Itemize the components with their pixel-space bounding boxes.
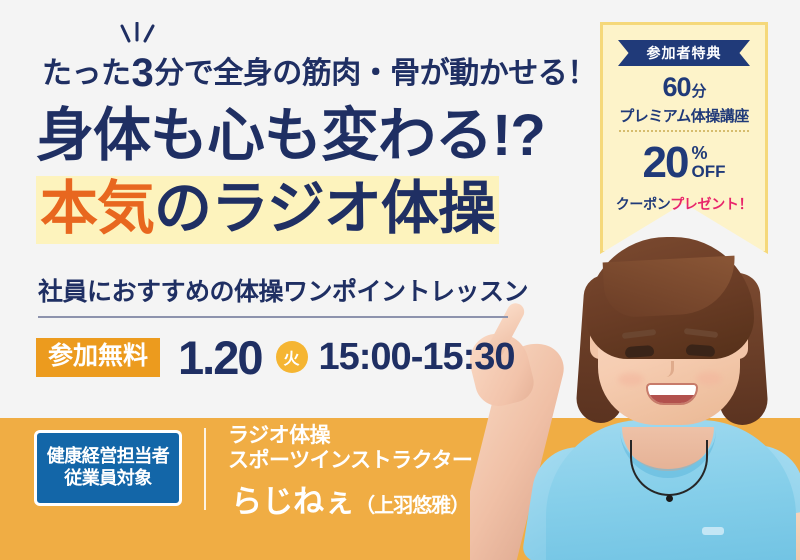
instructor-mouth [646, 383, 698, 405]
event-time: 15:00-15:30 [319, 338, 515, 376]
presenter-block: ラジオ体操 スポーツインストラクター らじねぇ（上羽悠雅） [228, 424, 472, 521]
presenter-name-row: らじねぇ（上羽悠雅） [228, 476, 472, 521]
event-date: 1.20 [178, 334, 261, 381]
subtitle: 社員におすすめの体操ワンポイントレッスン [38, 272, 528, 308]
benefit-ribbon: 参加者特典 60分 プレミアム体操講座 20 % OFF クーポンプレゼント！ [600, 22, 768, 254]
headline-primary: 身体も心も変わる!? [36, 107, 545, 165]
free-entry-badge: 参加無料 [36, 338, 160, 377]
coupon-note: クーポンプレゼント！ [600, 194, 768, 214]
presenter-name: らじねぇ [231, 484, 355, 519]
headline-accent-text: 本気 [40, 176, 154, 241]
benefit-discount: 20 % OFF [600, 142, 768, 184]
shirt-logo [702, 527, 724, 535]
presenter-role-line-1: ラジオ体操 [228, 424, 472, 449]
coupon-suffix: プレゼント！ [670, 196, 752, 212]
benefit-duration: 60分 [600, 72, 768, 103]
ribbon-header-label: 参加者特典 [618, 40, 750, 66]
tagline: たった3分で全身の筋肉・骨が動かせる！ [42, 48, 597, 96]
instructor-photo [470, 215, 800, 560]
necklace-pendant [666, 495, 673, 502]
event-date-row: 参加無料 1.20 火 15:00-15:30 [36, 332, 515, 382]
discount-percent-sign: % [691, 144, 707, 162]
headline-secondary: 本気のラジオ体操 [36, 176, 499, 244]
promo-banner: たった3分で全身の筋肉・骨が動かせる！ 身体も心も変わる!? 本気のラジオ体操 … [0, 0, 800, 560]
instructor-eye-left [625, 345, 655, 358]
instructor-blush-left [618, 373, 644, 386]
tagline-suffix: 分で全身の筋肉・骨が動かせる！ [154, 57, 597, 90]
benefit-course-name: プレミアム体操講座 [600, 105, 768, 126]
tagline-prefix: たった [42, 57, 131, 90]
audience-line-2: 従業員対象 [64, 468, 152, 490]
presenter-name-reading: （上羽悠雅） [355, 495, 469, 517]
audience-box: 健康経営担当者 従業員対象 [34, 430, 182, 506]
discount-number: 20 [643, 142, 688, 184]
benefit-duration-unit: 分 [692, 83, 706, 100]
coupon-prefix: クーポン [616, 196, 670, 212]
presenter-role-line-2: スポーツインストラクター [228, 449, 472, 474]
footer-divider [204, 428, 206, 510]
ribbon-dotted-divider [618, 130, 750, 132]
tagline-number: 3 [132, 51, 154, 95]
ribbon-content: 参加者特典 60分 プレミアム体操講座 20 % OFF クーポンプレゼント！ [600, 22, 768, 254]
headline-secondary-highlight: 本気のラジオ体操 [36, 176, 499, 244]
discount-off-label: OFF [691, 163, 725, 180]
instructor-eye-right [686, 344, 716, 357]
audience-line-1: 健康経営担当者 [47, 446, 170, 468]
weekday-badge: 火 [276, 341, 308, 373]
benefit-duration-number: 60 [662, 72, 690, 102]
sparkle-icon [112, 22, 162, 50]
divider-rule [38, 316, 508, 318]
discount-suffix: % OFF [691, 144, 725, 180]
headline-rest-text: のラジオ体操 [154, 176, 495, 241]
instructor-blush-right [696, 372, 722, 385]
